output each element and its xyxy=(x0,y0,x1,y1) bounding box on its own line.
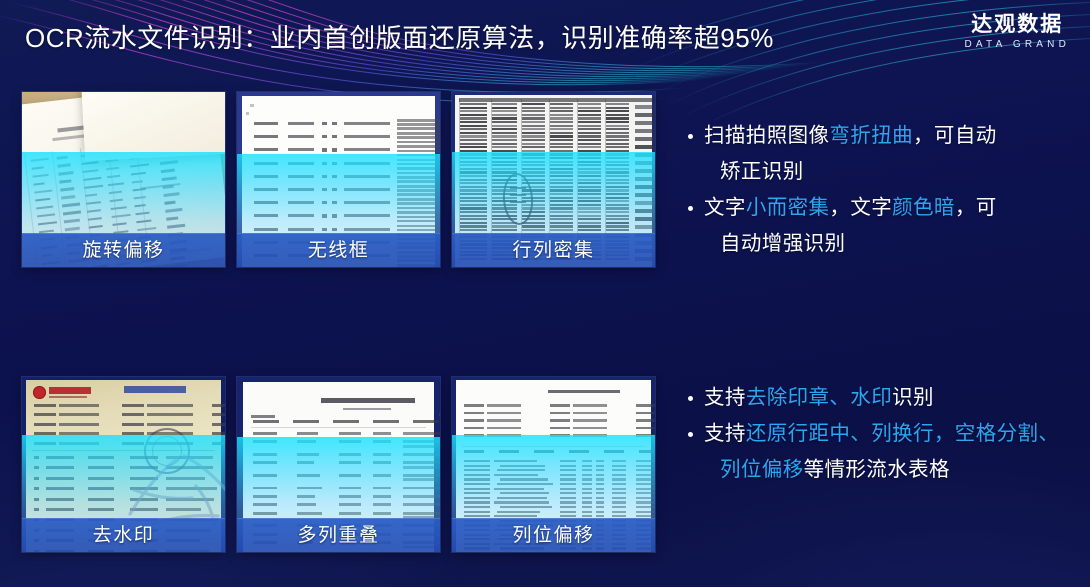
sample-card[interactable]: 旋转偏移 xyxy=(22,92,225,267)
bullet-text: 支持 xyxy=(704,386,746,409)
bullet-text: ，文字 xyxy=(829,196,892,219)
logo-english-name: DATA GRAND xyxy=(964,39,1070,50)
sample-card-caption: 旋转偏移 xyxy=(22,233,225,267)
sample-card-caption: 去水印 xyxy=(22,518,225,552)
sample-card[interactable]: 行列密集 xyxy=(452,92,655,267)
bullet-item: 文字小而密集，文字颜色暗，可自动增强识别 xyxy=(688,190,997,262)
page-title: OCR流水文件识别：业内首创版面还原算法，识别准确率超95% xyxy=(25,18,774,55)
bullet-highlight-text: 弯折扭曲 xyxy=(829,124,913,147)
brand-logo: 达观数据 DATA GRAND xyxy=(964,13,1070,50)
bullet-text: 支持 xyxy=(704,422,746,445)
bullet-highlight-text: 去除印章、水印 xyxy=(746,386,892,409)
bullet-highlight-text: 列位偏移 xyxy=(720,458,804,481)
sample-card-caption: 多列重叠 xyxy=(237,518,440,552)
sample-card[interactable]: 去水印 xyxy=(22,377,225,552)
sample-card[interactable]: 多列重叠 xyxy=(237,377,440,552)
sample-card-caption: 列位偏移 xyxy=(452,518,655,552)
bullet-continuation-line: 自动增强识别 xyxy=(704,226,997,262)
bullet-text: ，可 xyxy=(955,196,997,219)
bullet-line: 文字小而密集，文字颜色暗，可 xyxy=(704,196,997,219)
bullet-text: 文字 xyxy=(704,196,746,219)
slide-canvas: OCR流水文件识别：业内首创版面还原算法，识别准确率超95% 达观数据 DATA… xyxy=(0,0,1090,587)
slide-header: OCR流水文件识别：业内首创版面还原算法，识别准确率超95% 达观数据 DATA… xyxy=(0,0,1090,78)
bullet-list-top: 扫描拍照图像弯折扭曲，可自动矫正识别文字小而密集，文字颜色暗，可自动增强识别 xyxy=(688,118,997,262)
bullet-line: 扫描拍照图像弯折扭曲，可自动 xyxy=(704,124,997,147)
bullet-item: 支持还原行距中、列换行，空格分割、列位偏移等情形流水表格 xyxy=(688,416,1059,488)
sample-card-caption: 行列密集 xyxy=(452,233,655,267)
bullet-line: 支持还原行距中、列换行，空格分割、 xyxy=(704,422,1059,445)
bullet-highlight-text: 颜色暗 xyxy=(892,196,955,219)
bullet-highlight-text: 还原行距中、列换行，空格分割、 xyxy=(746,422,1060,445)
bullet-text: ，可自动 xyxy=(913,124,997,147)
bullet-continuation-line: 列位偏移等情形流水表格 xyxy=(704,452,1059,488)
bullet-item: 扫描拍照图像弯折扭曲，可自动矫正识别 xyxy=(688,118,997,190)
sample-card-caption: 无线框 xyxy=(237,233,440,267)
bullet-continuation-line: 矫正识别 xyxy=(704,154,997,190)
bullet-text: 扫描拍照图像 xyxy=(704,124,829,147)
bullet-text: 等情形流水表格 xyxy=(804,458,950,481)
logo-chinese-name: 达观数据 xyxy=(964,13,1070,36)
sample-card[interactable]: 列位偏移 xyxy=(452,377,655,552)
bullet-highlight-text: 小而密集 xyxy=(746,196,830,219)
bullet-list-bottom: 支持去除印章、水印识别支持还原行距中、列换行，空格分割、列位偏移等情形流水表格 xyxy=(688,380,1059,488)
bullet-line: 支持去除印章、水印识别 xyxy=(704,386,934,409)
bullet-text: 识别 xyxy=(892,386,934,409)
bullet-item: 支持去除印章、水印识别 xyxy=(688,380,1059,416)
sample-card[interactable]: 无线框 xyxy=(237,92,440,267)
